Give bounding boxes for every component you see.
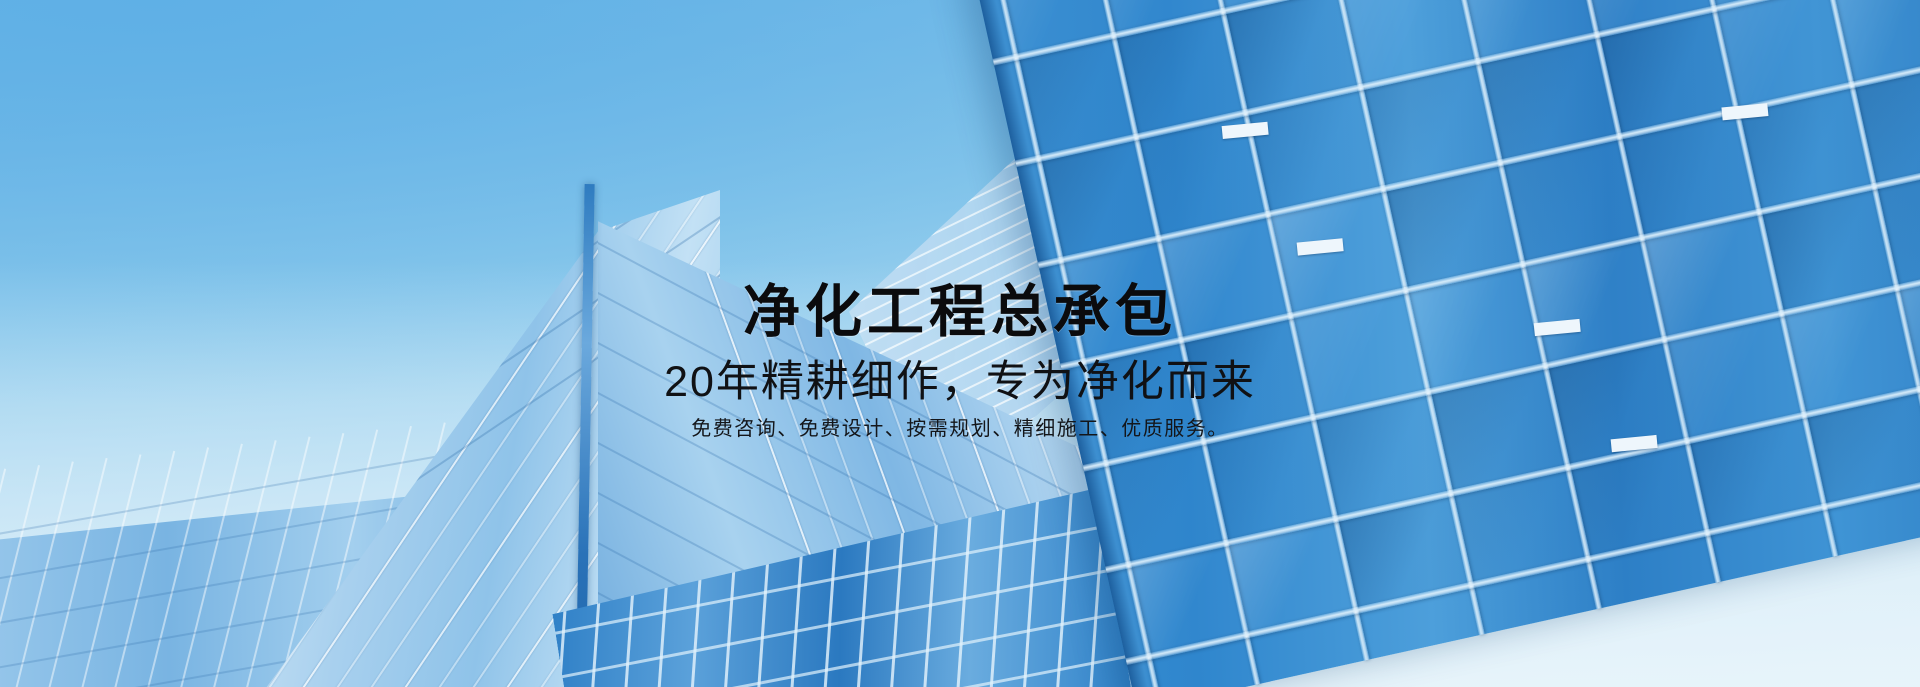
hero-tagline: 免费咨询、免费设计、按需规划、精细施工、优质服务。: [0, 416, 1920, 442]
hero-subheadline: 20年精耕细作，专为净化而来: [0, 358, 1920, 406]
hero-headline: 净化工程总承包: [0, 282, 1920, 344]
hero-banner: 净化工程总承包 20年精耕细作，专为净化而来 免费咨询、免费设计、按需规划、精细…: [0, 0, 1920, 687]
hero-copy-block: 净化工程总承包 20年精耕细作，专为净化而来 免费咨询、免费设计、按需规划、精细…: [0, 282, 1920, 442]
